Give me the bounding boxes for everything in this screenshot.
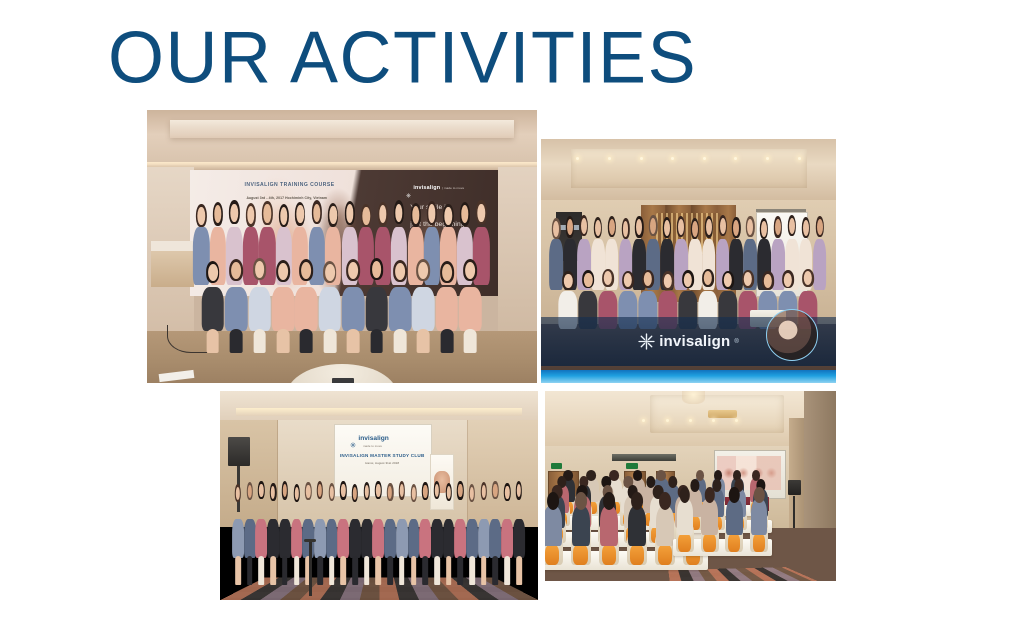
seated-attendee (656, 506, 675, 546)
slide-canvas: OUR ACTIVITIES INVISALIGN TRAINING COURS… (0, 0, 1017, 625)
torso (513, 519, 525, 558)
attendee-head (659, 492, 671, 510)
invisalign-starburst-icon (406, 185, 411, 190)
ceiling-spotlights (576, 154, 800, 164)
legs (277, 329, 290, 353)
drum-pendant-light (708, 410, 737, 418)
chandelier (682, 391, 705, 404)
face (609, 219, 615, 235)
invisalign-wordmark: invisalign (413, 185, 440, 191)
face (747, 219, 753, 235)
photo-invisalign-training-course[interactable]: INVISALIGN TRAINING COURSE August 3rd - … (147, 110, 537, 383)
ceiling (147, 110, 537, 165)
page-title: OUR ACTIVITIES (108, 14, 697, 102)
face (789, 218, 795, 234)
person (294, 260, 319, 331)
torso (225, 287, 248, 331)
face (664, 220, 670, 236)
invisalign-wordmark: invisalign (358, 435, 388, 442)
legs (446, 556, 452, 585)
torso (201, 287, 224, 331)
invisalign-wordmark: invisalign (659, 333, 730, 350)
seated-attendee (726, 499, 742, 535)
face (623, 221, 629, 237)
banner-date: Hanoi, August 31st 2018 (339, 461, 425, 465)
legs (317, 556, 323, 585)
pillar (789, 418, 804, 532)
face (278, 263, 288, 280)
face (678, 219, 684, 235)
torso (459, 287, 482, 331)
attendee-head (691, 479, 700, 491)
person (318, 260, 343, 331)
legs (481, 556, 487, 585)
legs (270, 556, 276, 585)
torso (361, 519, 373, 558)
torso (501, 519, 513, 558)
torso (443, 519, 455, 558)
legs (329, 556, 335, 585)
legs (399, 556, 405, 585)
microphone-stand (309, 542, 312, 596)
face (465, 262, 475, 279)
pa-speaker (788, 480, 801, 495)
attendee-head (603, 492, 615, 510)
person (435, 260, 460, 331)
face (231, 262, 241, 279)
seated-attendee (600, 506, 619, 546)
torso (295, 287, 318, 331)
torso (272, 287, 295, 331)
torso (419, 519, 431, 558)
face (650, 218, 656, 234)
photo-seminar-room-audience[interactable] (545, 391, 836, 581)
orange-chair-sash (658, 544, 672, 565)
legs (422, 556, 428, 585)
face (595, 220, 601, 236)
legs (370, 329, 383, 353)
backdrop-subline: August 3rd - 4th, 2017 Hochiminh City, V… (246, 196, 394, 200)
torso (318, 287, 341, 331)
torso (490, 519, 502, 558)
pa-speaker (228, 437, 250, 466)
face (720, 218, 726, 234)
orange-chair-sash (728, 533, 740, 552)
torso (349, 519, 361, 558)
torso (389, 287, 412, 331)
legs (235, 556, 241, 585)
seated-attendee (572, 506, 591, 546)
cove-light (236, 408, 522, 416)
legs (387, 556, 393, 585)
backdrop-headline: INVISALIGN TRAINING COURSE (245, 182, 393, 188)
legs (394, 329, 407, 353)
legs (247, 556, 253, 585)
legs (458, 556, 464, 585)
person (200, 260, 225, 331)
person (411, 260, 436, 331)
face (255, 261, 265, 278)
person (271, 260, 296, 331)
orange-chair-sash (703, 533, 715, 552)
invisalign-starburst-icon (350, 435, 356, 441)
torso (291, 519, 303, 558)
attendee-head (680, 487, 690, 503)
face (372, 261, 382, 278)
seated-group (202, 260, 483, 331)
exit-sign-left (551, 463, 563, 469)
legs (340, 556, 346, 585)
legs (352, 556, 358, 585)
person (224, 260, 249, 331)
legs (282, 556, 288, 585)
legs (464, 329, 477, 353)
torso (454, 519, 466, 558)
torso (232, 519, 244, 558)
legs (376, 556, 382, 585)
legs (347, 329, 360, 353)
torso (342, 287, 365, 331)
projected-slide-imagery (717, 456, 781, 490)
cove-light (147, 162, 537, 170)
attendee-head (656, 470, 666, 481)
banner-title: INVISALIGN MASTER STUDY CLUB (339, 453, 425, 458)
wall-right (498, 167, 537, 336)
torso (337, 519, 349, 558)
person (341, 260, 366, 331)
orange-chair-sash (678, 533, 690, 552)
seated-attendee (701, 499, 717, 535)
legs (253, 329, 266, 353)
ceiling (220, 391, 538, 422)
legs (411, 556, 417, 585)
face (567, 219, 573, 235)
trademark-symbol: ® (734, 339, 738, 345)
legs (300, 329, 313, 353)
face (803, 220, 809, 236)
attendee-head (575, 492, 587, 510)
legs (206, 329, 219, 353)
camera-on-table (332, 378, 353, 383)
overlay-blue-strip (541, 370, 836, 383)
face (636, 219, 642, 235)
overlay-circle-inset (766, 309, 818, 361)
pa-speaker-stand (793, 496, 795, 532)
torso (408, 519, 420, 558)
torso (373, 519, 385, 558)
exit-sign-middle (626, 463, 638, 469)
legs (440, 329, 453, 353)
face (395, 263, 405, 280)
orange-chair-sash (573, 544, 587, 565)
torso (248, 287, 271, 331)
face (761, 221, 767, 237)
face (775, 219, 781, 235)
legs (516, 556, 522, 585)
legs (364, 556, 370, 585)
face (553, 221, 559, 237)
person (512, 483, 525, 558)
person (364, 260, 389, 331)
face (208, 264, 218, 281)
face (418, 262, 428, 279)
torso (279, 519, 291, 558)
seated-attendee (677, 499, 693, 535)
face (706, 219, 712, 235)
torso (466, 519, 478, 558)
torso (478, 519, 490, 558)
legs (230, 329, 243, 353)
attendee-head (754, 487, 764, 503)
person (388, 260, 413, 331)
face (301, 262, 311, 279)
legs (504, 556, 510, 585)
face (733, 220, 739, 236)
photo-invisalign-seminar-group[interactable]: invisalign ® (541, 139, 836, 383)
face (442, 264, 452, 281)
torso (436, 287, 459, 331)
attendee-head (668, 476, 677, 488)
torso (267, 519, 279, 558)
backdrop-logo-lockup: invisalign | made to move (406, 185, 464, 191)
orange-chair-sash (602, 544, 616, 565)
face (581, 218, 587, 234)
seated-attendee (628, 506, 647, 546)
legs (417, 329, 430, 353)
torso (255, 519, 267, 558)
photo-invisalign-master-study-club[interactable]: invisalign made to move INVISALIGN MASTE… (220, 391, 538, 600)
face (692, 221, 698, 237)
legs (469, 556, 475, 585)
torso (431, 519, 443, 558)
orange-chair-sash (545, 544, 559, 565)
attendee-head (704, 487, 714, 503)
side-table (151, 241, 194, 287)
ceiling-downlights (632, 418, 748, 424)
attendee-head (631, 492, 643, 510)
orange-chair-sash (630, 544, 644, 565)
orange-chair-sash (753, 533, 765, 552)
wall-soffit (612, 454, 676, 462)
torso (326, 519, 338, 558)
attendee-head (729, 487, 739, 503)
invisalign-starburst-icon (638, 333, 655, 350)
person (458, 260, 483, 331)
banner-logo-tagline: made to move (363, 444, 382, 448)
torso (244, 519, 256, 558)
face (348, 262, 358, 279)
attendee-head (609, 470, 619, 481)
face (325, 264, 335, 281)
attendee-head (633, 470, 643, 481)
legs (294, 556, 300, 585)
person (247, 260, 272, 331)
torso (396, 519, 408, 558)
face (817, 219, 823, 235)
legs (323, 329, 336, 353)
legs (259, 556, 265, 585)
banner-logo-lockup: invisalign (350, 435, 388, 442)
invisalign-tagline: | made to move (442, 186, 464, 190)
legs (493, 556, 499, 585)
legs (434, 556, 440, 585)
torso (412, 287, 435, 331)
seated-attendee (751, 499, 767, 535)
torso (365, 287, 388, 331)
torso (384, 519, 396, 558)
torso (314, 519, 326, 558)
attendee-head (547, 492, 559, 510)
standing-group (233, 483, 526, 558)
seated-attendee (545, 506, 562, 546)
